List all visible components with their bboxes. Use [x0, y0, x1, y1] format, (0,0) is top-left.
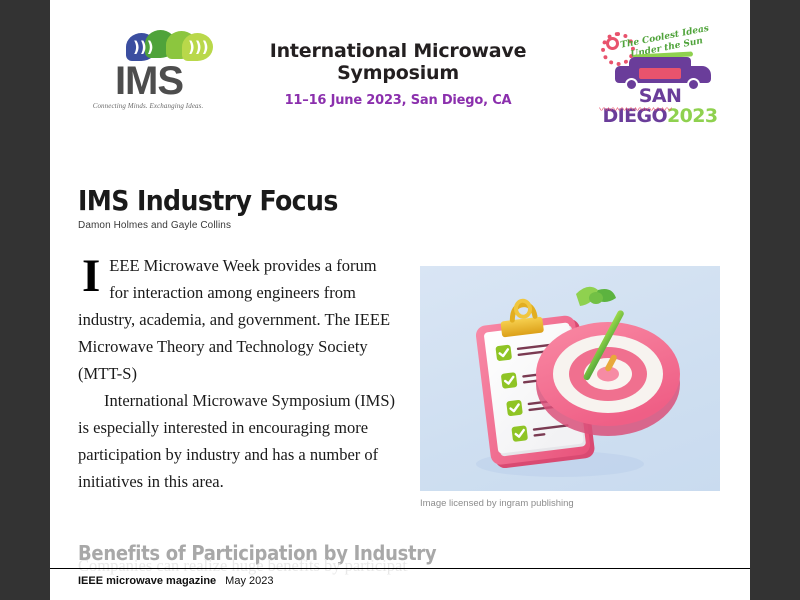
footer-publication: IEEE microwave magazine: [78, 575, 216, 587]
event-title-block: International Microwave Symposium 11–16 …: [228, 40, 568, 108]
footer: IEEE microwave magazineMay 2023: [78, 575, 273, 587]
event-title: International Microwave Symposium: [228, 40, 568, 84]
paragraph-2: International Microwave Symposium (IMS) …: [78, 387, 398, 495]
screenshot-viewport: ))) ))) IMS Connecting Minds. Exchanging…: [0, 0, 800, 600]
ims-logo: ))) ))) IMS Connecting Minds. Exchanging…: [78, 30, 218, 118]
speech-bubbles-icon: ))) ))): [126, 30, 212, 62]
wave-decoration-icon: 〰〰〰〰〰〰〰〰: [599, 107, 721, 114]
ims-tagline: Connecting Minds. Exchanging Ideas.: [78, 102, 218, 110]
paragraph-1: IEEE Microwave Week provides a forum for…: [78, 252, 398, 387]
figure-image: [420, 266, 720, 491]
figure-caption: Image licensed by ingram publishing: [420, 498, 720, 509]
article-body: IEEE Microwave Week provides a forum for…: [78, 252, 398, 495]
ims-wordmark: IMS: [80, 60, 218, 102]
masthead: ))) ))) IMS Connecting Minds. Exchanging…: [50, 22, 750, 122]
paragraph-1-text: EEE Microwave Week provides a forum for …: [78, 256, 390, 383]
footer-divider: [50, 568, 750, 569]
drop-cap: I: [82, 256, 100, 296]
page-title: IMS Industry Focus: [78, 184, 338, 217]
event-date-location: 11–16 June 2023, San Diego, CA: [228, 93, 568, 108]
sd-wordmark: SAN DIEGO2023: [595, 86, 725, 126]
magazine-page: ))) ))) IMS Connecting Minds. Exchanging…: [50, 0, 750, 600]
san-diego-2023-logo: The Coolest Ideas Under the Sun SAN DIEG…: [595, 28, 725, 118]
footer-issue: May 2023: [225, 575, 273, 587]
article-figure: Image licensed by ingram publishing: [420, 266, 720, 491]
clipboard-target-illustration: [420, 266, 720, 491]
byline: Damon Holmes and Gayle Collins: [78, 220, 231, 231]
